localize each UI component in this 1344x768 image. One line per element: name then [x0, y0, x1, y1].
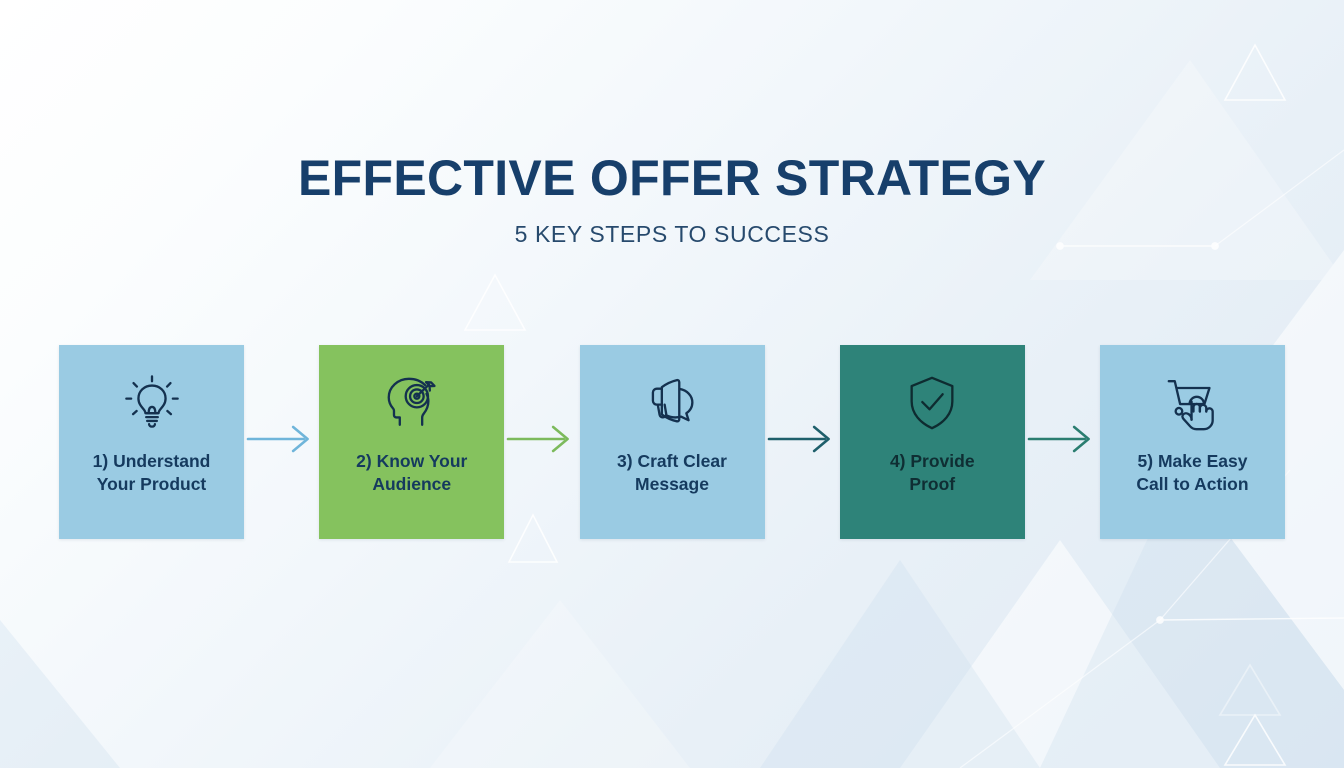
step-label-2-line1: 2) Know Your	[326, 450, 498, 473]
step-label-1-line1: 1) Understand	[66, 450, 238, 473]
connector-1	[244, 345, 319, 539]
steps-flow: 1) Understand Your Product 2) Know Your …	[59, 345, 1285, 539]
megaphone-icon	[641, 372, 703, 434]
step-label-3: 3) Craft Clear Message	[586, 450, 758, 496]
page-title: EFFECTIVE OFFER STRATEGY	[0, 152, 1344, 205]
arrow-2-3	[508, 427, 568, 451]
step-label-1: 1) Understand Your Product	[66, 450, 238, 496]
step-card-2[interactable]: 2) Know Your Audience	[319, 345, 504, 539]
step-label-5-line1: 5) Make Easy	[1107, 450, 1279, 473]
header: EFFECTIVE OFFER STRATEGY 5 KEY STEPS TO …	[0, 152, 1344, 248]
step-label-2: 2) Know Your Audience	[326, 450, 498, 496]
lightbulb-icon	[121, 372, 183, 434]
page-subtitle: 5 KEY STEPS TO SUCCESS	[0, 221, 1344, 248]
step-label-5: 5) Make Easy Call to Action	[1107, 450, 1279, 496]
cart-hand-click-icon	[1162, 372, 1224, 434]
step-label-1-line2: Your Product	[66, 473, 238, 496]
connector-2	[504, 345, 579, 539]
step-label-4-line2: Proof	[846, 473, 1018, 496]
step-label-4-line1: 4) Provide	[846, 450, 1018, 473]
step-label-2-line2: Audience	[326, 473, 498, 496]
arrow-3-4	[769, 427, 829, 451]
step-card-4[interactable]: 4) Provide Proof	[840, 345, 1025, 539]
arrow-4-5	[1029, 427, 1089, 451]
connector-3	[765, 345, 840, 539]
arrow-1-2	[248, 427, 308, 451]
step-label-5-line2: Call to Action	[1107, 473, 1279, 496]
head-target-icon	[381, 372, 443, 434]
step-label-3-line1: 3) Craft Clear	[586, 450, 758, 473]
step-card-5[interactable]: 5) Make Easy Call to Action	[1100, 345, 1285, 539]
connector-4	[1025, 345, 1100, 539]
step-label-3-line2: Message	[586, 473, 758, 496]
step-label-4: 4) Provide Proof	[846, 450, 1018, 496]
step-card-3[interactable]: 3) Craft Clear Message	[580, 345, 765, 539]
shield-check-icon	[901, 372, 963, 434]
step-card-1[interactable]: 1) Understand Your Product	[59, 345, 244, 539]
